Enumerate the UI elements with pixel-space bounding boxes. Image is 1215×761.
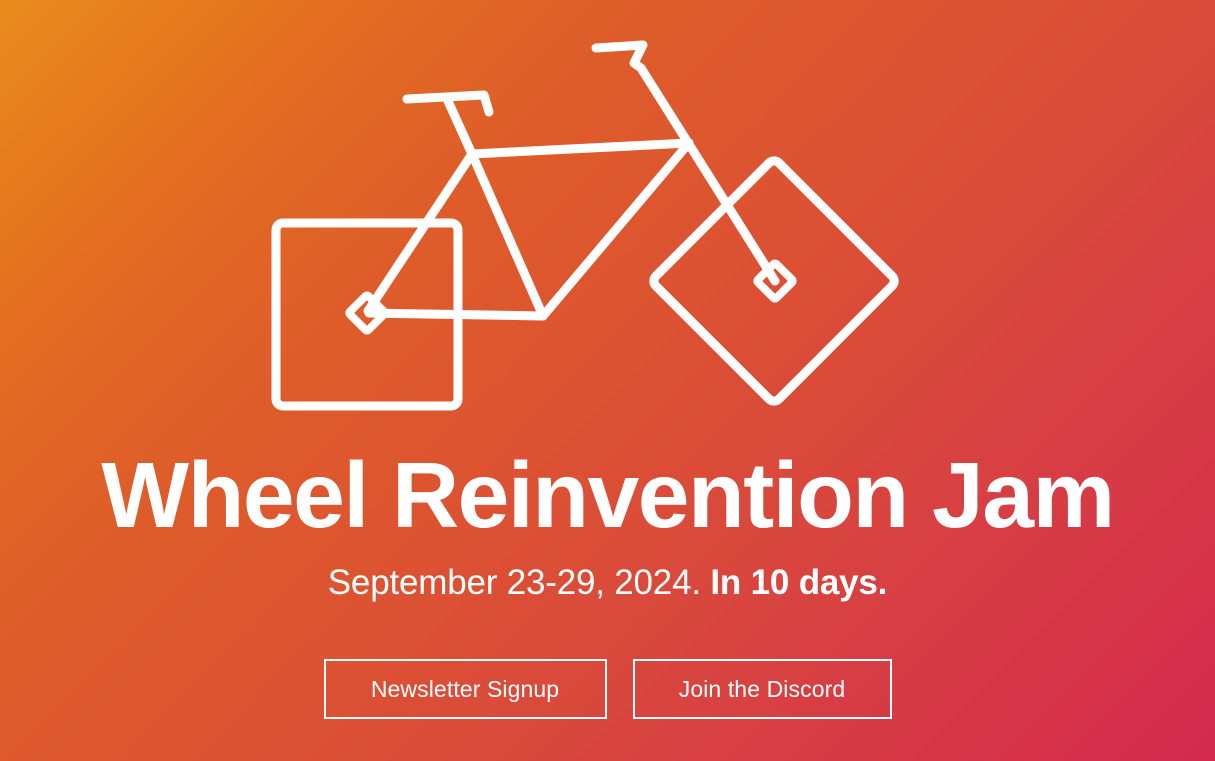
countdown-text: In 10 days. <box>710 563 887 602</box>
event-dates-subtitle: September 23-29, 2024. In 10 days. <box>0 560 1215 606</box>
front-diamond-wheel <box>651 158 897 404</box>
event-date-range: September 23-29, 2024. <box>328 563 701 602</box>
frame-down-tube <box>472 154 543 316</box>
join-discord-button[interactable]: Join the Discord <box>633 659 892 719</box>
seat <box>596 45 643 68</box>
hero-section: Wheel Reinvention Jam September 23-29, 2… <box>0 0 1215 761</box>
square-wheel-bicycle-logo <box>0 0 1215 430</box>
logo-container <box>0 0 1215 430</box>
frame-chain-stay <box>369 313 543 316</box>
cta-button-row: Newsletter Signup Join the Discord <box>0 659 1215 719</box>
newsletter-signup-button[interactable]: Newsletter Signup <box>324 659 607 719</box>
frame-fork <box>368 154 472 311</box>
page-title: Wheel Reinvention Jam <box>0 447 1215 545</box>
frame-seat-stay <box>543 143 689 316</box>
rear-square-wheel <box>276 223 458 406</box>
frame-steerer <box>448 101 472 154</box>
rear-hub <box>349 295 386 332</box>
front-hub <box>757 263 794 300</box>
handlebar <box>407 95 489 112</box>
frame-seat-tube <box>641 68 775 281</box>
frame-top-tube <box>472 143 689 154</box>
